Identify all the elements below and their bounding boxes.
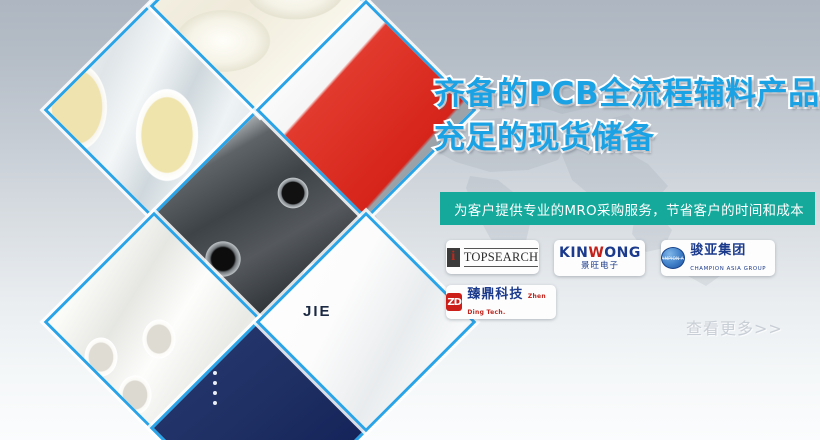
banner-headline: 齐备的PCB全流程辅料产品、 充足的现货储备 (434, 72, 820, 160)
partner-logo-kinwong[interactable]: KINWONG 景旺电子 (554, 240, 645, 276)
kinwong-wordmark-a: KIN (559, 245, 588, 261)
kinwong-wordmark-w: W (588, 245, 604, 261)
champion-chinese-name: 骏亚集团 (690, 243, 746, 258)
zhen-ding-mark-letters: ZD (447, 297, 461, 308)
banner-subtitle-text: 为客户提供专业的MRO采购服务，节省客户的时间和成本 (440, 199, 804, 219)
globe-icon: CHAMPION ASIA (661, 247, 685, 269)
topsearch-mark-icon (447, 248, 460, 267)
banner-subtitle-bar: 为客户提供专业的MRO采购服务，节省客户的时间和成本 (440, 192, 815, 225)
kinwong-wordmark-c: ONG (604, 245, 641, 261)
headline-line-1: 齐备的PCB全流程辅料产品、 (434, 76, 820, 112)
zhen-ding-chinese-name: 臻鼎科技 (467, 287, 523, 302)
blue-board-dots (207, 371, 217, 411)
partner-logo-champion-asia[interactable]: CHAMPION ASIA 骏亚集团 CHAMPION ASIA GROUP (661, 240, 775, 276)
kinwong-chinese-name: 景旺电子 (559, 262, 641, 271)
champion-globe-text: CHAMPION ASIA (661, 256, 685, 261)
promo-banner: JIE 齐备的PCB全流程辅料产品、 充足的现货储备 为客户提供专业的MRO采购… (0, 0, 820, 440)
partner-logo-topsearch[interactable]: TOPSEARCH (446, 240, 539, 274)
banner-copy: 齐备的PCB全流程辅料产品、 充足的现货储备 (434, 72, 820, 160)
topsearch-wordmark: TOPSEARCH (464, 248, 539, 267)
view-more-link[interactable]: 查看更多>> (686, 315, 783, 339)
headline-line-2: 充足的现货储备 (434, 116, 820, 160)
champion-english-name: CHAMPION ASIA GROUP (690, 266, 766, 272)
kinwong-wordmark: KINWONG (559, 246, 641, 260)
partner-logo-zhen-ding[interactable]: ZD 臻鼎科技 Zhen Ding Tech. (446, 285, 556, 319)
paper-brand-text: JIE (303, 303, 332, 320)
zhen-ding-mark-icon: ZD (446, 293, 462, 311)
product-image-collage: JIE (0, 0, 460, 440)
